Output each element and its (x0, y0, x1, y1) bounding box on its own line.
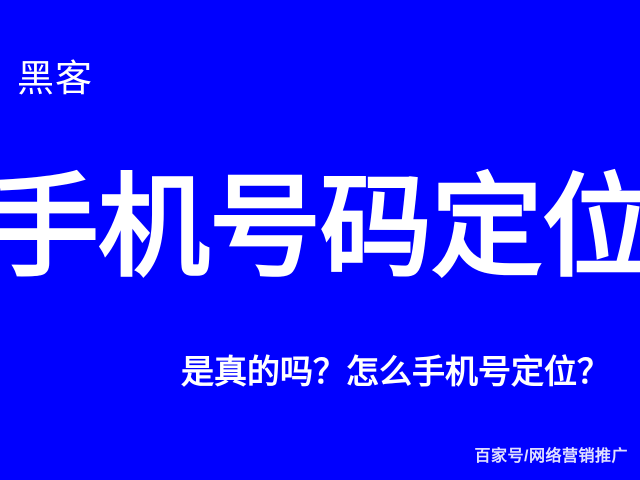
page-title: 手机号码定位 (0, 163, 640, 293)
kicker-label: 黑客 (17, 57, 93, 101)
watermark-label: 百家号/网络营销推广 (475, 447, 628, 467)
subtitle-question: 是真的吗？怎么手机号定位？ (0, 350, 610, 394)
poster-canvas: 黑客 手机号码定位 是真的吗？怎么手机号定位？ 百家号/网络营销推广 (0, 0, 640, 480)
